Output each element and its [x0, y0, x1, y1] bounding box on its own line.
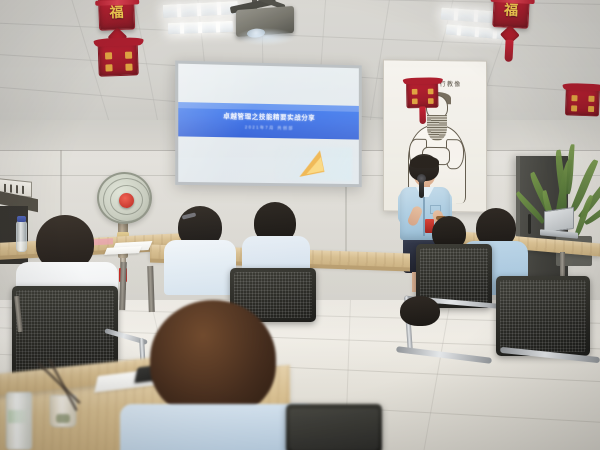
- decoration-pavilion-center: [407, 44, 440, 83]
- deco-tassel-center: [419, 106, 426, 124]
- pavilion-charm-left: [98, 41, 139, 76]
- chair-mesh-right: [420, 248, 488, 304]
- training-room-photo: 卓越管理之技能精要实战分享 2021年7月 共创部 先师孔子行教像 福: [0, 0, 600, 450]
- projector-beam-glow: [236, 28, 296, 46]
- cabinet-handle[interactable]: [528, 214, 531, 234]
- mesh-office-chair-foreground[interactable]: [286, 404, 382, 450]
- mesh-office-chair-right-near[interactable]: [496, 276, 590, 356]
- decoration-fu-right: 福: [489, 0, 534, 87]
- fan-hub: [119, 193, 134, 208]
- pedestal-fan: [97, 172, 152, 224]
- decoration-fu-left: 福: [98, 0, 141, 89]
- water-bottle-cap: [17, 216, 26, 222]
- ceiling-light-2: [168, 21, 233, 34]
- attendee-right-near-head: [400, 296, 440, 326]
- confucius-beard: [427, 115, 447, 141]
- pavilion-charm-center: [406, 81, 438, 109]
- tea-leaves: [56, 414, 70, 423]
- pavilion-charm-right: [565, 86, 600, 116]
- attendee-foreground-head: [150, 300, 276, 418]
- presentation-slide: 卓越管理之技能精要实战分享 2021年7月 共创部: [178, 64, 359, 184]
- bottle-label-stripe: [8, 410, 30, 423]
- slide-screen-sheen: [178, 64, 359, 184]
- attendee-mid-left-torso: [164, 240, 236, 295]
- water-bottle: [16, 221, 27, 252]
- decoration-pavilion-far-right: [568, 47, 600, 89]
- presenter-hair-fringe: [410, 156, 439, 168]
- fu-character-left: 福: [98, 1, 135, 22]
- projection-screen: 卓越管理之技能精要实战分享 2021年7月 共创部: [175, 61, 362, 188]
- deco-tassel-right: [504, 40, 513, 62]
- chair-mesh-foreground: [290, 408, 378, 450]
- fu-character-right: 福: [493, 0, 530, 21]
- chair-mesh-right-near: [500, 280, 586, 352]
- microphone-head: [417, 174, 426, 183]
